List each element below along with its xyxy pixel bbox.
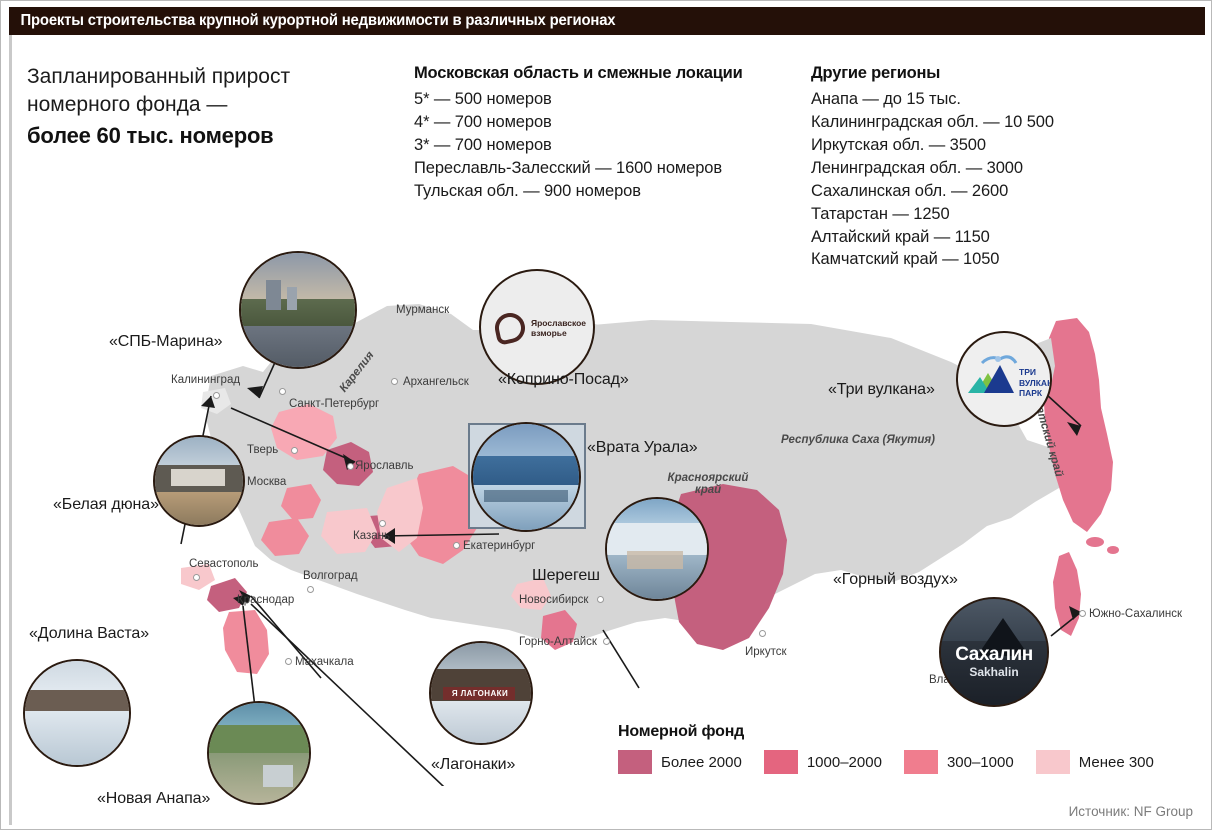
city-dot-volgograd (307, 586, 314, 593)
lagonaki-sign-text: Я ЛАГОНАКИ (447, 688, 513, 699)
city-label-krasnodar: Краснодар (237, 594, 294, 606)
sakhalin-title: Сахалин (947, 644, 1040, 666)
column-other-item-0: Анапа — до 15 тыс. (811, 88, 1054, 111)
tri-vulkana-logo-text: ТРИ ВУЛКАНА ПАРК (1014, 367, 1052, 399)
title-bar: Проекты строительства крупной курортной … (9, 7, 1205, 35)
label-belaya-dyuna: «Белая дюна» (53, 496, 159, 514)
city-label-yuzhno-sakhalinsk: Южно-Сахалинск (1089, 608, 1182, 620)
city-label-volgograd: Волгоград (303, 570, 358, 582)
city-dot-arkhangelsk (391, 378, 398, 385)
logo-text: Ярославское взморье (531, 318, 586, 338)
city-dot-kazan (379, 520, 386, 527)
left-rule (9, 35, 12, 825)
legend-swatch-3 (1036, 750, 1070, 774)
column-moscow-item-3: Переславль-Залесский — 1600 номеров (414, 157, 743, 180)
label-lagonaki: «Лагонаки» (431, 756, 515, 774)
column-moscow-item-1: 4* — 700 номеров (414, 111, 743, 134)
logo-tri-vulkana[interactable]: ТРИ ВУЛКАНА ПАРК (956, 331, 1052, 427)
city-label-moscow: Москва (247, 476, 286, 488)
sakhalin-subtitle: Sakhalin (947, 665, 1040, 679)
city-label-spb: Санкт-Петербург (289, 398, 379, 410)
page-title: Проекты строительства крупной курортной … (9, 12, 615, 30)
city-dot-novosibirsk (597, 596, 604, 603)
city-label-murmansk: Мурманск (396, 304, 449, 316)
photo-dolina-vasta[interactable] (23, 659, 131, 767)
logo-koprino-posad[interactable]: Ярославское взморье (479, 269, 595, 385)
spiral-icon (492, 310, 528, 346)
column-other-item-3: Ленинградская обл. — 3000 (811, 157, 1054, 180)
legend-label-1: 1000–2000 (807, 754, 882, 771)
column-other-heading: Другие регионы (811, 64, 1054, 83)
headline-line2: номерного фонда — (27, 91, 387, 119)
legend-item-2: 300–1000 (904, 750, 1014, 774)
legend-swatch-2 (904, 750, 938, 774)
legend-label-0: Более 2000 (661, 754, 742, 771)
city-dot-ekaterinburg (453, 542, 460, 549)
column-other-item-4: Сахалинская обл. — 2600 (811, 180, 1054, 203)
column-moscow-heading: Московская область и смежные локации (414, 64, 743, 83)
column-other-item-2: Иркутская обл. — 3500 (811, 134, 1054, 157)
label-vrata-urala: «Врата Урала» (587, 439, 698, 457)
column-moscow-item-0: 5* — 500 номеров (414, 88, 743, 111)
label-spb-marina: «СПБ-Марина» (109, 333, 222, 351)
photo-novaya-anapa[interactable] (207, 701, 311, 805)
city-label-irkutsk: Иркутск (745, 646, 787, 658)
city-label-tver: Тверь (247, 444, 278, 456)
city-label-sevastopol: Севастополь (189, 558, 258, 570)
city-dot-irkutsk (759, 630, 766, 637)
legend-item-1: 1000–2000 (764, 750, 882, 774)
label-gorny-vozduh: «Горный воздух» (833, 571, 958, 589)
city-dot-yuzhno-sakhalinsk (1079, 610, 1086, 617)
headline-line3: более 60 тыс. номеров (27, 121, 387, 150)
photo-spb-marina[interactable] (239, 251, 357, 369)
city-label-kaliningrad: Калининград (171, 374, 240, 386)
legend: Номерной фонд Более 2000 1000–2000 300–1… (618, 723, 1176, 774)
label-dolina-vasta: «Долина Васта» (29, 625, 149, 643)
city-dot-kaliningrad (213, 392, 220, 399)
headline-line1: Запланированный прирост (27, 63, 387, 91)
city-label-makhachkala: Махачкала (295, 656, 354, 668)
yaroslavskoe-vzmorye-logo: Ярославское взморье (495, 313, 586, 343)
city-label-novosibirsk: Новосибирск (519, 594, 588, 606)
city-dot-sevastopol (193, 574, 200, 581)
city-label-kazan: Казань (353, 530, 390, 542)
photo-lagonaki[interactable]: Я ЛАГОНАКИ (429, 641, 533, 745)
city-label-yaroslavl: Ярославль (355, 460, 414, 472)
region-label-sakha: Республика Саха (Якутия) (781, 434, 935, 446)
region-label-krasnoyarsk: Красноярский край (663, 472, 753, 496)
city-label-arkhangelsk: Архангельск (403, 376, 469, 388)
legend-item-3: Менее 300 (1036, 750, 1154, 774)
label-koprino-posad: «Коприно-Посад» (498, 371, 629, 389)
legend-items: Более 2000 1000–2000 300–1000 Менее 300 (618, 750, 1176, 774)
city-dot-makhachkala (285, 658, 292, 665)
city-label-ekaterinburg: Екатеринбург (463, 540, 535, 552)
legend-swatch-0 (618, 750, 652, 774)
legend-title: Номерной фонд (618, 723, 1176, 741)
legend-item-0: Более 2000 (618, 750, 742, 774)
infographic-frame: Проекты строительства крупной курортной … (0, 0, 1212, 830)
label-novaya-anapa: «Новая Анапа» (97, 790, 210, 808)
label-sheregesh: Шерегеш (532, 567, 600, 585)
source-note: Источник: NF Group (1069, 804, 1193, 819)
photo-sheregesh[interactable] (605, 497, 709, 601)
column-moscow-item-2: 3* — 700 номеров (414, 134, 743, 157)
photo-belaya-dyuna[interactable] (153, 435, 245, 527)
column-moscow-item-4: Тульская обл. — 900 номеров (414, 180, 743, 203)
photo-gorny-vozduh[interactable]: Сахалин Sakhalin (939, 597, 1049, 707)
city-dot-tver (291, 447, 298, 454)
legend-label-3: Менее 300 (1079, 754, 1154, 771)
city-dot-gorno-altaysk (603, 638, 610, 645)
city-dot-yaroslavl (347, 463, 354, 470)
label-tri-vulkana: «Три вулкана» (828, 381, 935, 399)
column-other-item-5: Татарстан — 1250 (811, 203, 1054, 226)
headline: Запланированный прирост номерного фонда … (27, 63, 387, 150)
column-other-item-1: Калининградская обл. — 10 500 (811, 111, 1054, 134)
photo-vrata-urala[interactable] (471, 422, 581, 532)
city-dot-spb (279, 388, 286, 395)
legend-swatch-1 (764, 750, 798, 774)
legend-label-2: 300–1000 (947, 754, 1014, 771)
column-moscow: Московская область и смежные локации 5* … (414, 64, 743, 203)
